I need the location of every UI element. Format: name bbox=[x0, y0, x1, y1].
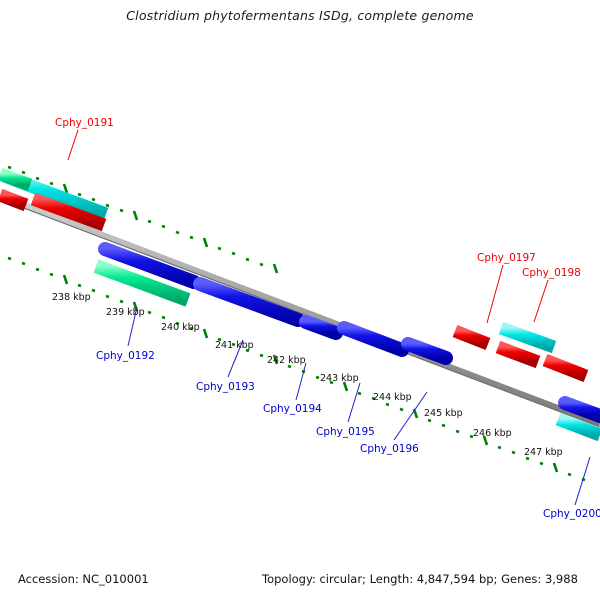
gene-body bbox=[0, 195, 26, 205]
genome-map-page: Clostridium phytofermentans ISDg, comple… bbox=[0, 0, 600, 600]
gene-tip bbox=[0, 174, 30, 185]
tick-label: 245 kbp bbox=[424, 408, 463, 419]
gene-label-cphy-0196[interactable]: Cphy_0196 bbox=[360, 443, 419, 455]
gene-body bbox=[498, 347, 538, 362]
leader-cphy-0194 bbox=[296, 363, 306, 400]
gene-label-cphy-0200[interactable]: Cphy_0200 bbox=[543, 508, 600, 520]
gene-body bbox=[501, 328, 554, 347]
gene-cphy-0198[interactable] bbox=[501, 328, 554, 347]
gene-label-cphy-0192[interactable]: Cphy_0192 bbox=[96, 350, 155, 362]
tick-label: 241 kbp bbox=[215, 340, 254, 351]
leader-cphy-0191 bbox=[68, 130, 78, 160]
leader-cphy-0197 bbox=[487, 265, 503, 323]
gene-body bbox=[545, 360, 586, 376]
axis-line bbox=[0, 196, 600, 424]
gene-label-cphy-0198[interactable]: Cphy_0198 bbox=[522, 267, 581, 279]
axis-line-shadow bbox=[0, 199, 600, 427]
genome-axis[interactable] bbox=[0, 196, 600, 427]
tick-label: 244 kbp bbox=[373, 392, 412, 403]
tick-label: 239 kbp bbox=[106, 307, 145, 318]
gene-red-mid[interactable] bbox=[498, 347, 538, 362]
tick-label: 240 kbp bbox=[161, 322, 200, 333]
gene-label-cphy-0191[interactable]: Cphy_0191 bbox=[55, 117, 114, 129]
gene-label-cphy-0195[interactable]: Cphy_0195 bbox=[316, 426, 375, 438]
tick-label: 243 kbp bbox=[320, 373, 359, 384]
genome-stats-text: Topology: circular; Length: 4,847,594 bp… bbox=[262, 572, 578, 586]
label-leaders bbox=[68, 130, 590, 505]
leader-cphy-0198 bbox=[534, 280, 548, 322]
leader-cphy-0195 bbox=[348, 383, 360, 422]
gene-cphy-0197[interactable] bbox=[455, 331, 488, 344]
gene-body bbox=[455, 331, 488, 344]
gene-red-right[interactable] bbox=[545, 360, 586, 376]
gene-label-cphy-0194[interactable]: Cphy_0194 bbox=[263, 403, 322, 415]
genome-map-canvas[interactable]: 238 kbp 239 kbp 240 kbp 241 kbp 242 kbp … bbox=[0, 0, 600, 600]
tick-label: 242 kbp bbox=[267, 355, 306, 366]
leader-cphy-0200 bbox=[575, 457, 590, 505]
gene-cphy-0195[interactable] bbox=[344, 328, 402, 350]
gene-body bbox=[344, 328, 402, 350]
gene-red-left-a[interactable] bbox=[0, 195, 26, 205]
tick-label: 247 kbp bbox=[524, 447, 563, 458]
tick-label: 238 kbp bbox=[52, 292, 91, 303]
gene-label-cphy-0193[interactable]: Cphy_0193 bbox=[196, 381, 255, 393]
tick-label: 246 kbp bbox=[473, 428, 512, 439]
accession-text: Accession: NC_010001 bbox=[18, 572, 149, 586]
gene-label-cphy-0197[interactable]: Cphy_0197 bbox=[477, 252, 536, 264]
